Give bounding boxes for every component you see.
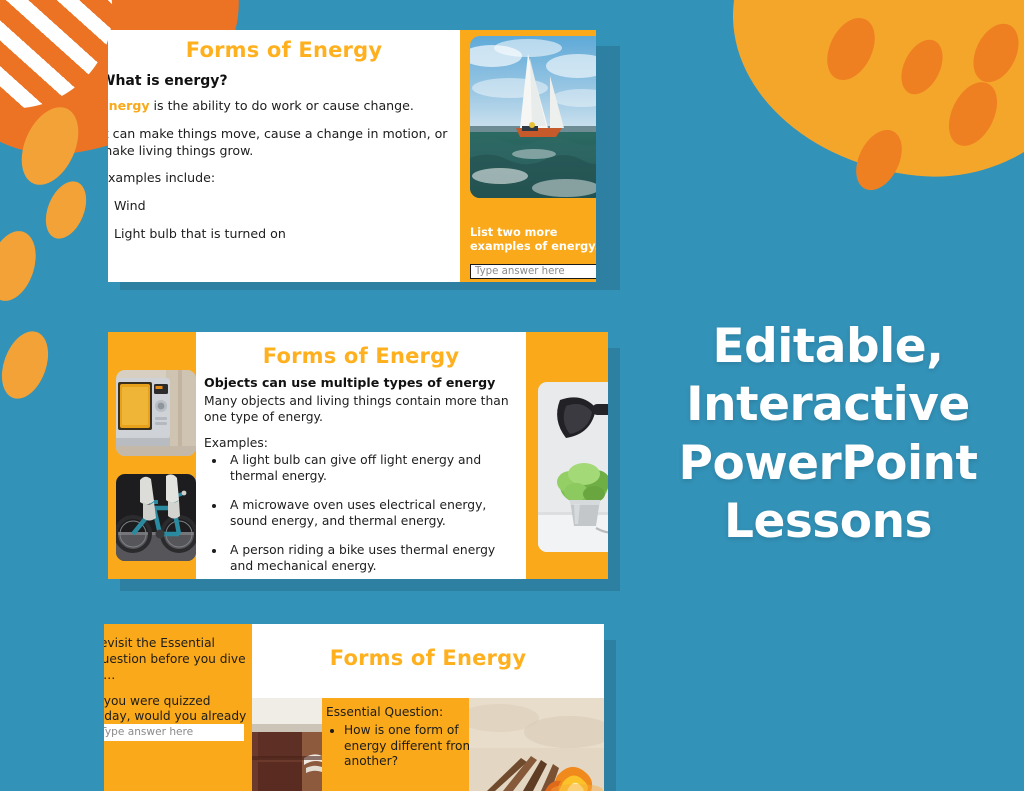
decorative-dot-top-left-4: [0, 325, 57, 405]
slide-3-left-line-1: Revisit the Essential Question before yo…: [104, 636, 247, 684]
slide-2-bullets: A light bulb can give off light energy a…: [204, 453, 522, 575]
decorative-dot-top-right-2: [893, 33, 951, 101]
slide-2-title: Forms of Energy: [196, 344, 526, 368]
lamp-plant-photo: [538, 382, 608, 552]
list-item: A light bulb can give off light energy a…: [226, 453, 522, 485]
bicycle-photo: [116, 474, 196, 561]
decorative-dot-top-left-3: [38, 175, 94, 244]
microwave-photo: [116, 370, 196, 456]
slide-forms-of-energy-intro[interactable]: Forms of Energy What is energy? Energy i…: [108, 30, 596, 282]
slide-1-lead-rest: is the ability to do work or cause chang…: [150, 98, 414, 113]
decorative-dot-top-right-3: [964, 16, 1024, 89]
promo-headline: Editable, Interactive PowerPoint Lessons: [632, 318, 1024, 551]
list-item: A microwave oven uses electrical energy,…: [226, 498, 522, 530]
list-item: A person riding a bike uses thermal ener…: [226, 543, 522, 575]
slide-1-answer-input[interactable]: Type answer here: [470, 264, 596, 279]
slide-2-body: Objects can use multiple types of energy…: [204, 375, 522, 579]
fireplace-photo: [252, 698, 322, 791]
slide-3-essential-question-label: Essential Question:: [326, 705, 466, 719]
slide-2-heading: Objects can use multiple types of energy: [204, 375, 522, 391]
headline-line-3: PowerPoint: [632, 435, 1024, 493]
decorative-dot-top-right-5: [847, 122, 911, 197]
slide-1-title: Forms of Energy: [108, 38, 460, 62]
slide-1-keyword: Energy: [108, 98, 150, 113]
decorative-dot-top-left-1: [10, 98, 89, 193]
list-item: How is one form of energy different from…: [344, 723, 484, 770]
slide-3-essential-question-list: How is one form of energy different from…: [326, 723, 484, 770]
slide-3-answer-input[interactable]: Type answer here: [104, 724, 244, 741]
decorative-dot-top-left-2: [0, 225, 44, 307]
campfire-photo: [469, 698, 604, 791]
poster-canvas: Forms of Energy What is energy? Energy i…: [0, 0, 1024, 791]
slide-1-body: What is energy? Energy is the ability to…: [108, 72, 450, 253]
slide-1-examples-label: Examples include:: [108, 170, 450, 187]
list-item: Light bulb that is turned on: [108, 226, 450, 243]
slide-1-lead: Energy is the ability to do work or caus…: [108, 98, 450, 115]
slide-multiple-types-of-energy[interactable]: Forms of Energy Objects can use multiple…: [108, 332, 608, 579]
slide-essential-question[interactable]: Revisit the Essential Question before yo…: [104, 624, 604, 791]
headline-line-4: Lessons: [632, 493, 1024, 551]
headline-line-2: Interactive: [632, 376, 1024, 434]
headline-line-1: Editable,: [632, 318, 1024, 376]
decorative-dot-top-right-4: [939, 74, 1007, 154]
slide-2-paragraph: Many objects and living things contain m…: [204, 394, 522, 426]
decorative-dot-top-right-1: [818, 10, 885, 88]
sailboat-photo: [470, 36, 596, 198]
slide-1-paragraph: It can make things move, cause a change …: [108, 126, 450, 159]
slide-1-examples-list: Wind Light bulb that is turned on: [108, 198, 450, 242]
slide-3-title: Forms of Energy: [252, 646, 604, 670]
decorative-stripes-top-left: [0, 0, 122, 117]
list-item: Wind: [108, 198, 450, 215]
decorative-orange-blob-top-right: [718, 0, 1024, 193]
slide-1-prompt: List two more examples of energy.: [470, 226, 596, 255]
slide-2-examples-label: Examples:: [204, 436, 522, 452]
slide-1-heading: What is energy?: [108, 72, 450, 90]
